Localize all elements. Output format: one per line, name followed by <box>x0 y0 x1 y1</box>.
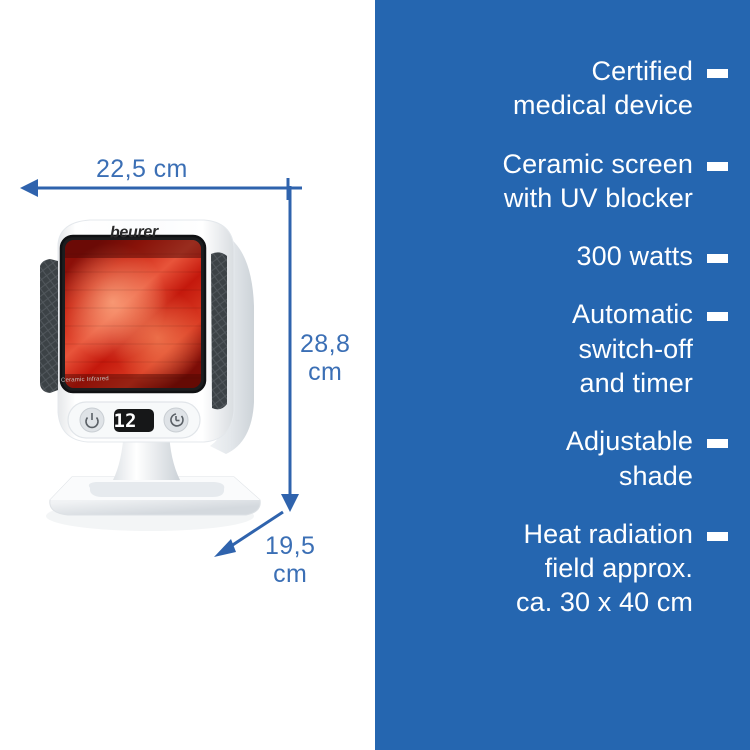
dash-marker-icon <box>707 439 728 448</box>
timer-display-value: 12 <box>105 410 145 432</box>
product-infographic: 22,5 cm 28,8 cm 19,5 cm <box>0 0 750 750</box>
feature-item-automatic-switch-off: Automatic switch-off and timer <box>393 297 728 400</box>
product-image-infrared-heat-lamp: beurer Ceramic Infrared 12 <box>28 214 284 534</box>
dash-marker-icon <box>707 312 728 321</box>
device-illustration <box>28 214 284 534</box>
brand-logo: beurer <box>110 223 158 242</box>
dash-marker-icon <box>707 532 728 541</box>
dash-marker-icon <box>707 162 728 171</box>
feature-item-heat-radiation-field: Heat radiation field approx. ca. 30 x 40… <box>393 517 728 620</box>
feature-label: Ceramic screen with UV blocker <box>503 147 693 216</box>
right-vent <box>211 252 227 409</box>
depth-dimension-label: 19,5 cm <box>265 532 315 588</box>
feature-label: Automatic switch-off and timer <box>572 297 693 400</box>
dash-marker-icon <box>707 69 728 78</box>
feature-item-ceramic-screen: Ceramic screen with UV blocker <box>393 147 728 216</box>
feature-label: Adjustable shade <box>566 424 693 493</box>
feature-label: 300 watts <box>577 239 693 273</box>
feature-item-certified-medical-device: Certified medical device <box>393 54 728 123</box>
height-dimension-label: 28,8 cm <box>300 330 350 386</box>
left-vent <box>40 259 58 393</box>
width-dimension-label: 22,5 cm <box>96 155 188 183</box>
feature-item-300-watts: 300 watts <box>393 239 728 273</box>
feature-label: Heat radiation field approx. ca. 30 x 40… <box>516 517 693 620</box>
depth-arrowhead <box>214 539 236 557</box>
dash-marker-icon <box>707 254 728 263</box>
product-dimension-area: 22,5 cm 28,8 cm 19,5 cm <box>0 0 375 750</box>
feature-list-panel: Certified medical device Ceramic screen … <box>375 0 750 750</box>
width-arrowhead-left <box>20 179 38 197</box>
feature-label: Certified medical device <box>513 54 693 123</box>
feature-item-adjustable-shade: Adjustable shade <box>393 424 728 493</box>
ceramic-screen <box>65 240 201 388</box>
